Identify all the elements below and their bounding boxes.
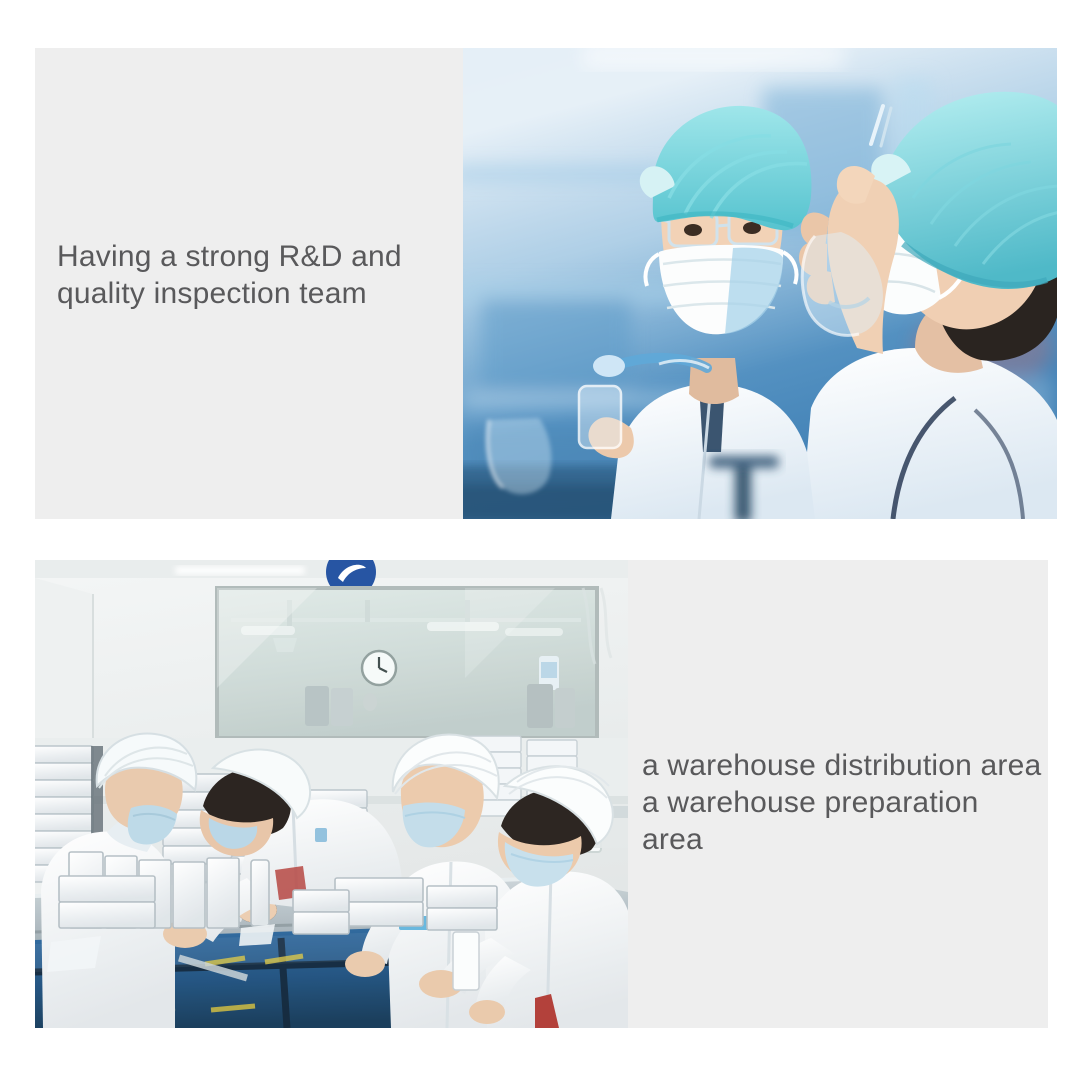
lab-technicians-photo [463, 48, 1057, 519]
page-canvas: Having a strong R&D and quality inspecti… [0, 0, 1080, 1080]
warehouse-packing-illustration [35, 560, 628, 1028]
caption-rnd-quality: Having a strong R&D and quality inspecti… [57, 238, 457, 312]
section-warehouse-areas: a warehouse distribution area a warehous… [35, 560, 1048, 1028]
section-rnd-quality: Having a strong R&D and quality inspecti… [35, 48, 1057, 519]
warehouse-packing-photo [35, 560, 628, 1028]
caption-warehouse-areas: a warehouse distribution area a warehous… [642, 747, 1042, 858]
lab-technicians-illustration [463, 48, 1057, 519]
